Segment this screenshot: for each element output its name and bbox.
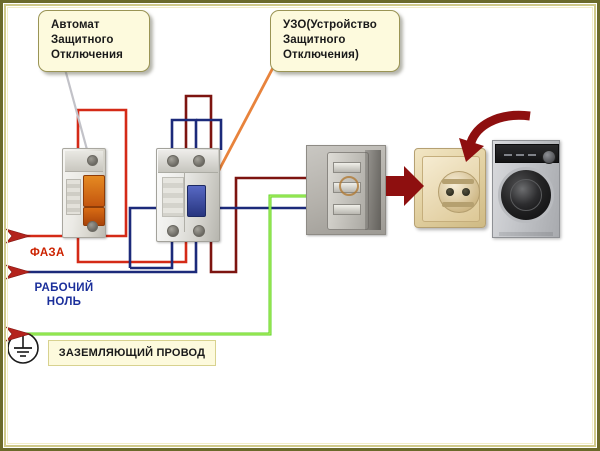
callout-rcd-line-3: Отключения) [283,48,389,63]
label-neutral: РАБОЧИЙ НОЛЬ [26,281,102,309]
washer-to-socket-arrow-icon [470,115,530,146]
label-phase: ФАЗА [30,246,65,260]
neutral-input-arrow-icon [6,265,30,279]
callout-rcd-line-2: Защитного [283,33,389,48]
callout-ground-label: ЗАЗЕМЛЯЮЩИЙ ПРОВОД [59,347,205,359]
callout-rcd[interactable]: УЗО(Устройство Защитного Отключения) [270,10,400,72]
label-neutral-line-1: РАБОЧИЙ [26,281,102,295]
callout-breaker-line-2: Защитного [51,33,139,48]
junction-to-socket-arrow-icon [386,166,424,206]
callout-rcd-line-1: УЗО(Устройство [283,18,389,33]
callout-breaker-line-3: Отключения [51,48,139,63]
callout-breaker-line-1: Автомат [51,18,139,33]
ground-input-arrow-icon [6,327,30,341]
label-neutral-line-2: НОЛЬ [26,295,102,309]
callout-circuit-breaker[interactable]: Автомат Защитного Отключения [38,10,150,72]
phase-input-arrow-icon [6,229,30,243]
callout-ground-wire[interactable]: ЗАЗЕМЛЯЮЩИЙ ПРОВОД [48,340,216,366]
wiring-diagram-canvas: Автомат Защитного Отключения УЗО(Устройс… [0,0,600,451]
